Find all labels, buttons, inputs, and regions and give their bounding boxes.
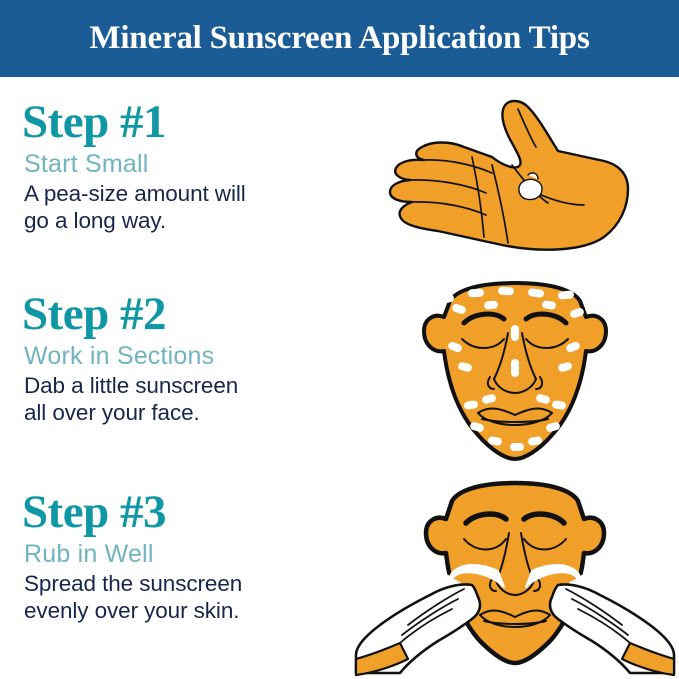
right-hand <box>550 584 674 675</box>
left-hand <box>356 584 480 675</box>
step-1-body-line-2: go a long way. <box>24 208 352 235</box>
step-2-body-line-1: Dab a little sunscreen <box>24 373 352 400</box>
step-2-heading: Step #2 <box>22 291 352 338</box>
step-1-heading: Step #1 <box>22 99 352 146</box>
page-title: Mineral Sunscreen Application Tips <box>89 22 589 55</box>
step-block-2: Step #2 Work in Sections Dab a little su… <box>22 291 352 426</box>
rubbing-face-illustration <box>352 473 679 679</box>
palm-shape <box>390 101 628 250</box>
step-2-subtitle: Work in Sections <box>24 342 352 370</box>
infographic-page: Mineral Sunscreen Application Tips Step … <box>0 0 679 679</box>
step-2-body: Dab a little sunscreen all over your fac… <box>24 373 352 426</box>
step-1-body: A pea-size amount will go a long way. <box>24 181 352 234</box>
illustrations-column <box>352 77 679 679</box>
step-3-body: Spread the sunscreen evenly over your sk… <box>24 571 352 624</box>
step-3-heading: Step #3 <box>22 489 352 536</box>
steps-text-column: Step #1 Start Small A pea-size amount wi… <box>22 77 352 679</box>
step-3-body-line-2: evenly over your skin. <box>24 598 352 625</box>
header-banner: Mineral Sunscreen Application Tips <box>0 0 679 77</box>
step-block-1: Step #1 Start Small A pea-size amount wi… <box>22 99 352 234</box>
step-3-subtitle: Rub in Well <box>24 540 352 568</box>
face-with-dabs-illustration <box>352 267 679 477</box>
open-palm-illustration <box>352 85 679 275</box>
step-2-body-line-2: all over your face. <box>24 400 352 427</box>
step-block-3: Step #3 Rub in Well Spread the sunscreen… <box>22 489 352 624</box>
step-3-body-line-1: Spread the sunscreen <box>24 571 352 598</box>
step-1-subtitle: Start Small <box>24 150 352 178</box>
step-1-body-line-1: A pea-size amount will <box>24 181 352 208</box>
